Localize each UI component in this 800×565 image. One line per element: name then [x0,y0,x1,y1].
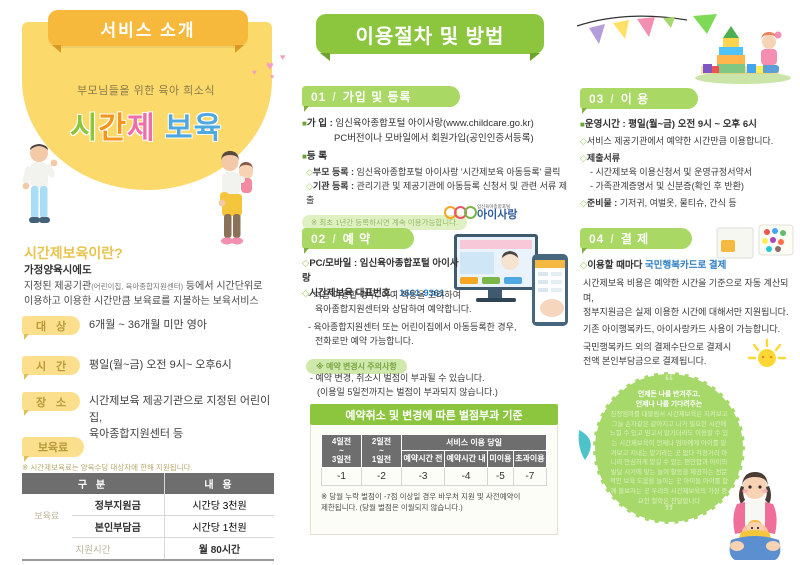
title-char-4: 보육 [156,112,223,145]
fee-row-1-label: 본인부담금 [72,516,165,538]
heart-icon: ♥ [252,68,257,77]
penalty-col1-tilde: ~ [339,446,344,455]
step-03-doc-item-1: - 시간제보육 이용신청서 및 운영규정서약서 [580,165,798,179]
smiley-icon [464,206,477,219]
step-04-detail-2: 기존 아이행복카드, 아이사랑카드 사용이 가능합니다. [580,322,798,336]
step-02-detail-2: - 육아종합지원센터 또는 어린이집에서 아동등록한 경우, 전화로만 예약 가… [308,320,566,349]
step-01-sub-item-1: ◇부모 등록 : 임신육아종합포털 아이사랑 '시간제보육 아동등록' 클릭 [302,165,570,179]
place-value-line2: 육아종합지원센터 등 [89,428,183,440]
table-row: -1 -2 -3 -4 -5 -7 [322,467,547,485]
title-char-3: 제 [127,112,156,145]
child-playing-blocks-illustration [693,22,793,84]
diamond-bullet-icon: ◇ [580,153,587,163]
title-char-1: 시 [70,112,99,145]
penalty-value-1: -2 [362,467,402,485]
quote-open-mark: “ [595,376,743,389]
penalty-table: 4일전 ~ 3일전 2일전 ~ 1일전 서비스 이용 당일 예약시간 전 예약시… [321,434,547,486]
intro-big-title: 시간제 보육 [0,103,292,147]
usage-procedure-label: 이용절차 및 방법 [356,20,505,49]
step-02-bullet-1: ◇PC/모바일 : 임신육아종합포털 아이사랑 [302,256,462,286]
place-value: 시간제보육 제공기관으로 지정된 어린이집, 육아종합지원센터 등 [89,392,282,443]
step-04-label: 결 제 [621,230,649,247]
step-03-bullet-1: ■운영시간 : 평일(월~금) 오전 9시 ~ 오후 6시 [580,117,798,132]
step-01-content: ■가 입 : 임신육아종합포털 아이사랑(www.childcare.go.kr… [302,116,570,230]
fee-row-2-label: 지원시간 [22,538,164,561]
step-01-b2-title: 등 록 [307,151,327,162]
fee-note: ※ 시간제보육료는 양육수당 대상자에 한해 지원됩니다. [22,462,193,473]
step-01-bullet-1-line2: PC버전이나 모바일에서 회원가입(공인인증서등록) [302,131,570,146]
fee-table: 구 분 내 용 보육료 정부지원금 시간당 3천원 본인부담금 시간당 1천원 … [22,473,274,561]
time-tag-char-2: 간 [56,358,66,374]
quote-line-1: 언제든 나를 반겨주고, [638,391,700,398]
penalty-value-5: -7 [513,467,546,485]
target-tag: 대 상 [22,316,80,335]
step-01-sub-item-2: ◇기관 등록 : 관리기관 및 제공기관에 아동등록 신청서 및 관련 서류 제… [302,179,570,208]
step-03-bullet-3: ◇제출서류 [580,151,798,165]
step-03-hours-label: 운영시간 : [585,119,628,130]
step-02-detail-2-line1: - 육아종합지원센터 또는 어린이집에서 아동등록한 경우, [308,320,566,334]
step-04-detail-1-line2: 정부지원금은 실제 이용한 시간에 대해서만 지원됩니다. [580,305,798,319]
step-01-label: 가입 및 등록 [343,88,412,105]
time-value: 평일(월~금) 오전 9시~ 오후6시 [89,356,232,374]
step-04-b1-pre: 이용할 때마다 [587,260,645,271]
step-03-hours-text: 평일(월~금) 오전 9시 ~ 오후 6시 [628,119,757,130]
fee-tag: 보육료 [22,437,84,457]
time-row: 시 간 평일(월~금) 오전 9시~ 오후6시 [22,356,282,375]
step-01-item1-text: 임신육아종합포털 아이사랑 '시간제보육 아동등록' 클릭 [354,167,560,177]
left-column: 서비스 소개 ♥ ♥ ♥ ♥ 부모님들을 위한 육아 희소식 시간제 보육 [0,0,292,565]
fee-row-1-value: 시간당 1천원 [164,516,274,538]
step-02-detail-1-line2: 육아종합지원센터와 상담하여 예약합니다. [308,302,476,316]
penalty-footnote: ※ 당월 누락 벌점이 -7점 이상일 경우 바우처 지원 및 사전예약이 제한… [311,486,557,514]
step-01-b1-text: 임신육아종합포털 아이사랑(www.childcare.go.kr) [333,118,534,129]
target-tag-char-2: 상 [56,318,66,334]
step-04-pill: 04 / 결 제 [580,228,692,249]
service-intro-ribbon: 서비스 소개 [48,10,248,46]
penalty-col1-line1: 4일전 [332,437,351,446]
step-02-detail-1: - 처음 이용할 경우, 아이 적응을 고려하여 육아종합지원센터와 상담하여 … [308,288,476,317]
fee-row-2-value: 월 80시간 [164,538,274,561]
step-04-bullet-1: ◇이용할 때마다 국민행복카드로 결제 [580,258,798,273]
step-03-doc-item-2: - 가족관계증명서 및 신분증(확인 후 반환) [580,179,798,193]
lead-line2-small: (어린이집, 육아종합지원센터) [91,282,183,291]
penalty-col2-line2: 1일전 [372,455,391,464]
step-03-slash: / [610,92,614,106]
penalty-col1-line2: 3일전 [332,455,351,464]
penalty-header-row-1: 4일전 ~ 3일전 2일전 ~ 1일전 서비스 이용 당일 [322,435,547,451]
right-column: 03 / 이 용 ■운영시간 : 평일(월~금) 오전 9시 ~ 오후 6시 ◇… [575,0,800,565]
penalty-sub-header-2: 미이용 [488,451,514,467]
warning-line-2: (이용일 5일전까지는 벌점이 부과되지 않습니다.) [310,385,560,399]
diamond-bullet-icon: ◇ [580,198,587,208]
lead-line2-end: 등에서 시간단위로 [183,281,262,292]
step-01-slash: / [332,90,336,104]
step-02-warning-body: - 예약 변경, 취소시 벌점이 부과될 수 있습니다. (이용일 5일전까지는… [310,371,560,400]
penalty-sub-header-3: 초과이용 [513,451,546,467]
what-is-lead-text: 가정양육시에도 지정된 제공기관(어린이집, 육아종합지원센터) 등에서 시간단… [24,262,274,310]
diamond-bullet-icon: ◇ [306,167,313,177]
step-03-bullet-2: ◇서비스 제공기관에서 예약한 시간만큼 이용합니다. [580,134,798,148]
step-01-bullet-1: ■가 입 : 임신육아종합포털 아이사랑(www.childcare.go.kr… [302,116,570,131]
step-03-number: 03 [589,92,604,106]
logo-name: 아이사랑 [477,210,517,221]
step-02-number: 02 [311,232,326,246]
title-char-2: 간 [98,112,127,145]
penalty-value-3: -4 [445,467,488,485]
middle-column: 이용절차 및 방법 01 / 가입 및 등록 ■가 입 : 임신육아종합포털 아… [292,0,575,565]
step-01-b1-title: 가 입 : [307,118,333,129]
step-03-docs-title: 제출서류 [587,153,620,163]
penalty-col-2-1-days: 2일전 ~ 1일전 [362,435,402,468]
penalty-table-box: 4일전 ~ 3일전 2일전 ~ 1일전 서비스 이용 당일 예약시간 전 예약시… [310,425,558,535]
penalty-sub-header-0: 예약시간 전 [402,451,445,467]
step-01-number: 01 [311,90,326,104]
heart-icon: ♥ [270,74,274,81]
step-03-b2-text: 서비스 제공기관에서 예약한 시간만큼 이용합니다. [587,136,773,146]
target-value: 6개월 ~ 36개월 미만 영아 [89,316,207,334]
time-tag: 시 간 [22,356,80,375]
aisarang-logo: 임신육아종합포털 아이사랑 [444,204,517,221]
step-02-detail-1-line1: - 처음 이용할 경우, 아이 적응을 고려하여 [308,288,476,302]
step-03-supplies-text: 기저귀, 여벌옷, 물티슈, 간식 등 [620,198,737,208]
time-tag-char-1: 시 [36,358,46,374]
quote-paragraph: 친정엄마를 대물림서 시간제보육은 지켜보고 그늘 손자같은 같아지고 나가 필… [610,411,728,504]
heart-icon: ♥ [280,52,285,62]
table-row: 보육료 정부지원금 시간당 3천원 [22,494,274,516]
quote-line-2: 언제나 나를 기다려주는 [636,401,702,408]
place-tag-char-2: 소 [56,394,66,410]
fee-header-content: 내 용 [164,473,274,494]
step-01-item1-label: 부모 등록 : [313,167,354,177]
penalty-col-4-3-days: 4일전 ~ 3일전 [322,435,362,468]
step-01-bullet-2: ■등 록 [302,149,570,164]
step-03-content: ■운영시간 : 평일(월~금) 오전 9시 ~ 오후 6시 ◇서비스 제공기관에… [580,117,798,210]
target-tag-char-1: 대 [36,318,46,334]
smiley-faces-icon [444,206,474,219]
fee-table-header-row: 구 분 내 용 [22,473,274,494]
fee-row-0-label: 정부지원금 [72,494,165,516]
penalty-col2-line1: 2일전 [372,437,391,446]
step-01-pill: 01 / 가입 및 등록 [302,86,460,107]
lead-line2: 지정된 제공기관 [24,281,91,292]
diamond-bullet-icon: ◇ [306,181,313,191]
penalty-sub-header-1: 예약시간 내 [445,451,488,467]
place-value-line1: 시간제보육 제공기관으로 지정된 어린이집, [89,395,270,424]
device-screenshot-illustration [452,228,572,333]
lead-line3: 이용하고 이용한 시간만큼 보육료를 지불하는 보육서비스 [24,296,259,307]
sun-illustration [747,336,787,376]
step-03-bullet-4: ◇준비물 : 기저귀, 여벌옷, 물티슈, 간식 등 [580,196,798,210]
fee-header-division: 구 분 [22,473,164,494]
step-04-b1-strong: 국민행복카드로 결제 [645,260,726,271]
place-tag-char-1: 장 [36,394,46,410]
what-is-section-heading: 시간제보육이란? [24,243,123,263]
diamond-bullet-icon: ◇ [580,136,587,146]
lead-line1: 가정양육시에도 [24,264,92,276]
intro-subhead: 부모님들을 위한 육아 희소식 [0,82,292,98]
warning-line-1: - 예약 변경, 취소시 벌점이 부과될 수 있습니다. [310,371,560,385]
penalty-value-2: -3 [402,467,445,485]
service-intro-label: 서비스 소개 [101,16,196,41]
penalty-group-header: 서비스 이용 당일 [402,435,547,451]
fee-group-label: 보육료 [22,494,72,538]
step-02-slash: / [332,232,336,246]
step-02-label: 예 약 [343,230,371,247]
table-row: 지원시간 월 80시간 [22,538,274,561]
logo-text-block: 임신육아종합포털 아이사랑 [477,204,517,221]
penalty-value-4: -5 [488,467,514,485]
step-02-detail-2-line2: 전화로만 예약 가능합니다. [308,334,566,348]
step-03-pill: 03 / 이 용 [580,88,698,109]
step-01-item2-label: 기관 등록 : [313,181,354,191]
usage-procedure-ribbon: 이용절차 및 방법 [316,14,544,54]
target-row: 대 상 6개월 ~ 36개월 미만 영아 [22,316,282,335]
step-02-b1-text: PC/모바일 : 임신육아종합포털 아이사랑 [302,258,459,284]
step-03-label: 이 용 [621,90,649,107]
penalty-col2-tilde: ~ [379,446,384,455]
father-illustration [16,142,62,230]
step-03-supplies-label: 준비물 : [587,198,620,208]
brochure-page: 서비스 소개 ♥ ♥ ♥ ♥ 부모님들을 위한 육아 희소식 시간제 보육 [0,0,800,565]
place-tag: 장 소 [22,392,80,411]
teal-ribbon-decoration [575,428,601,462]
mother-holding-baby-illustration [715,470,795,565]
step-04-slash: / [610,232,614,246]
step-04-detail-1-line1: 시간제보육 비용은 예약한 시간을 기준으로 자동 계산되며, [580,276,798,305]
step-04-number: 04 [589,232,604,246]
mother-and-child-illustration [208,150,264,246]
step-02-pill: 02 / 예 약 [302,228,414,249]
place-row: 장 소 시간제보육 제공기관으로 지정된 어린이집, 육아종합지원센터 등 [22,392,282,443]
fee-row-0-value: 시간당 3천원 [164,494,274,516]
penalty-table-title: 예약취소 및 변경에 따른 벌점부과 기준 [310,404,558,425]
penalty-footnote-line1: ※ 당월 누락 벌점이 -7점 이상일 경우 바우처 지원 및 사전예약이 [321,492,520,501]
penalty-footnote-line2: 제한됩니다. (당월 벌점은 이월되지 않습니다.) [321,503,463,512]
penalty-value-0: -1 [322,467,362,485]
heart-icon: ♥ [266,58,274,73]
